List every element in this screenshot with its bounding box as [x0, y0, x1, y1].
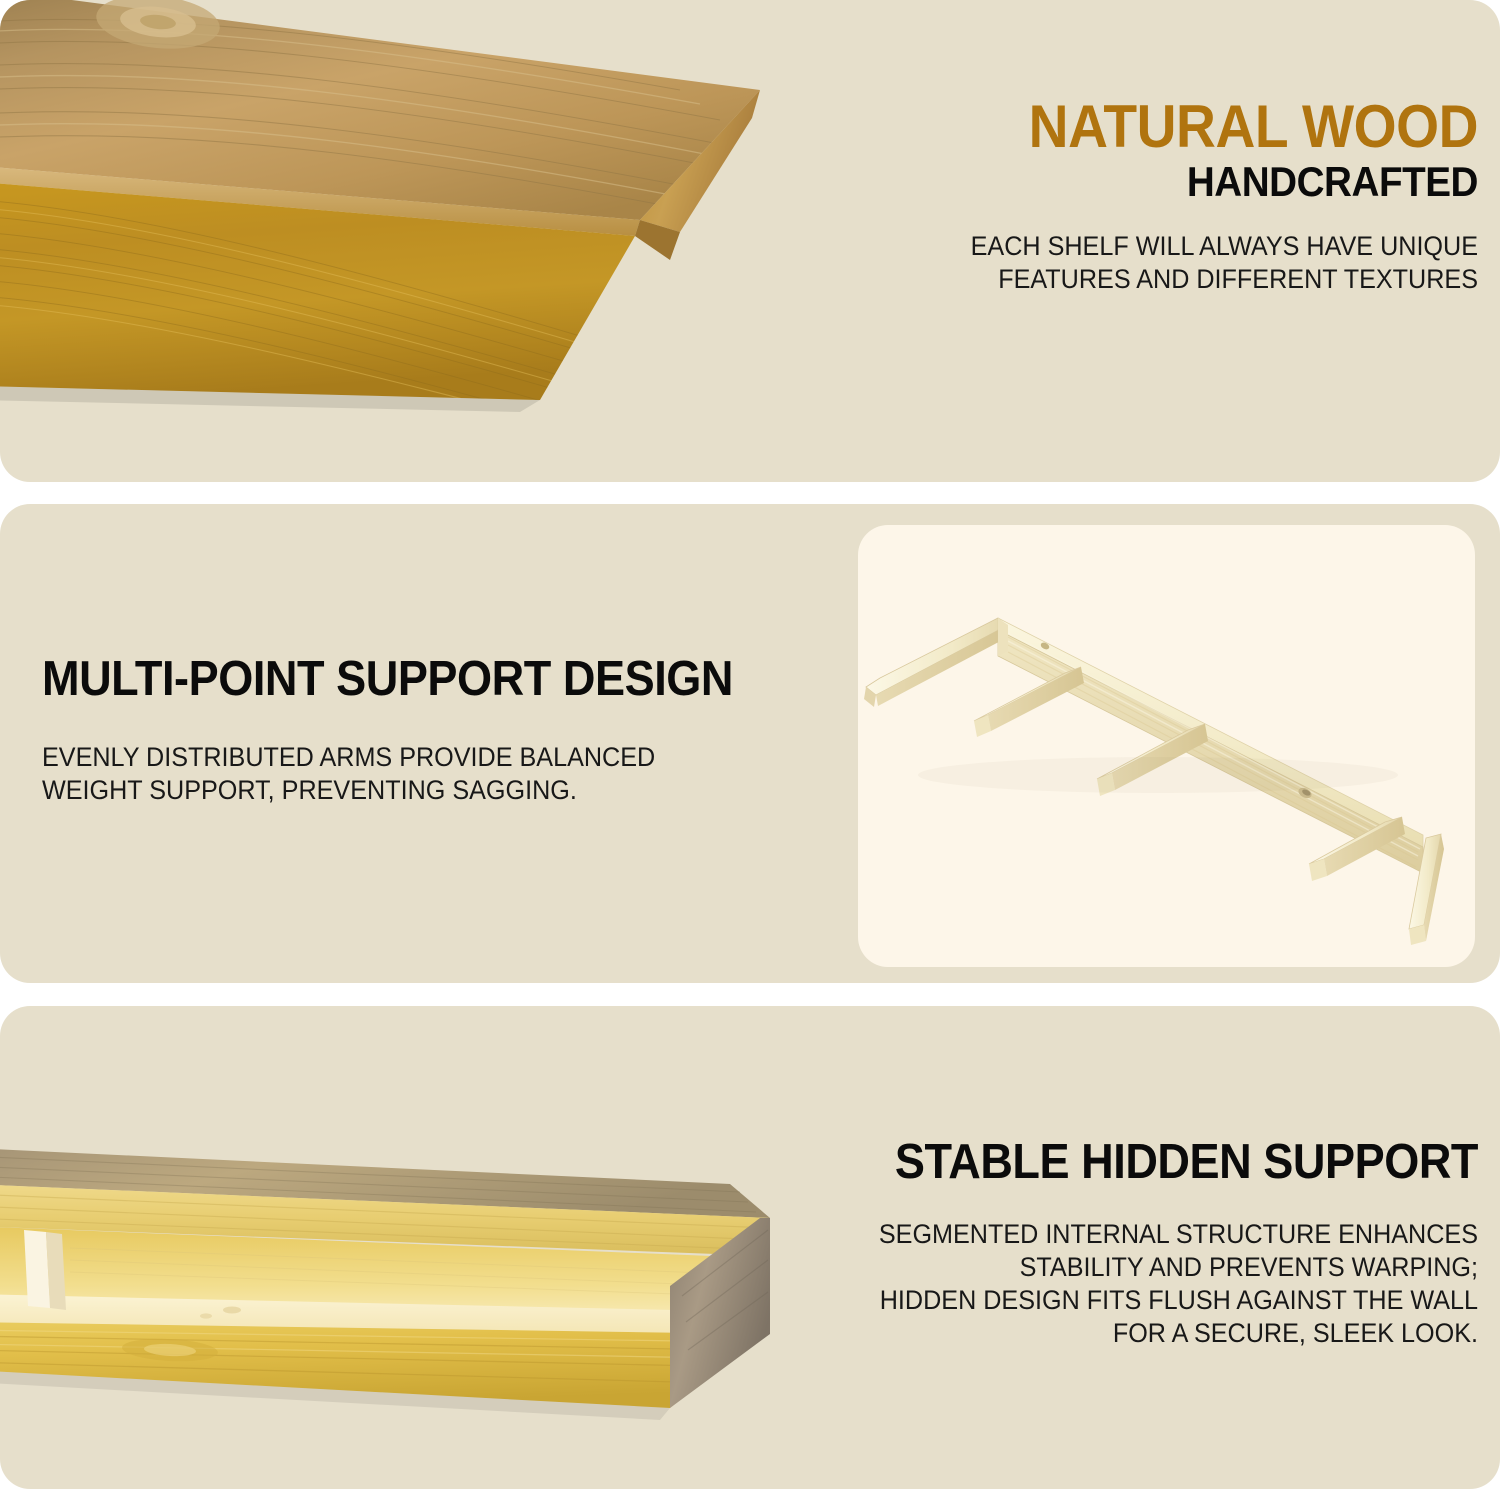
- product-feature-infographic: NATURAL WOOD HANDCRAFTED EACH SHELF WILL…: [0, 0, 1500, 1489]
- subheadline-handcrafted: HANDCRAFTED: [889, 161, 1478, 204]
- panel-1-text-block: NATURAL WOOD HANDCRAFTED EACH SHELF WILL…: [838, 96, 1478, 296]
- wooden-mounting-bracket-photo: [858, 525, 1475, 967]
- body-line: WEIGHT SUPPORT, PREVENTING SAGGING.: [42, 774, 764, 807]
- body-line: STABILITY AND PREVENTS WARPING;: [870, 1251, 1478, 1284]
- body-line: EVENLY DISTRIBUTED ARMS PROVIDE BALANCED: [42, 741, 764, 774]
- headline-stable-hidden-support: STABLE HIDDEN SUPPORT: [889, 1138, 1478, 1188]
- panel-2-text-block: MULTI-POINT SUPPORT DESIGN EVENLY DISTRI…: [42, 655, 802, 807]
- stained-wood-plank-photo: [0, 0, 820, 440]
- bracket-image-card: [858, 525, 1475, 967]
- body-line: SEGMENTED INTERNAL STRUCTURE ENHANCES: [870, 1218, 1478, 1251]
- panel-natural-wood: NATURAL WOOD HANDCRAFTED EACH SHELF WILL…: [0, 0, 1500, 482]
- body-line: FOR A SECURE, SLEEK LOOK.: [870, 1317, 1478, 1350]
- body-line: FEATURES AND DIFFERENT TEXTURES: [870, 263, 1478, 296]
- panel-stable-hidden-support: STABLE HIDDEN SUPPORT SEGMENTED INTERNAL…: [0, 1006, 1500, 1489]
- headline-multi-point-support: MULTI-POINT SUPPORT DESIGN: [42, 655, 741, 705]
- hollow-shelf-interior-photo: [0, 1126, 830, 1486]
- panel-multi-point-support: MULTI-POINT SUPPORT DESIGN EVENLY DISTRI…: [0, 504, 1500, 983]
- headline-natural-wood: NATURAL WOOD: [889, 96, 1478, 157]
- panel-3-text-block: STABLE HIDDEN SUPPORT SEGMENTED INTERNAL…: [838, 1138, 1478, 1349]
- body-line: EACH SHELF WILL ALWAYS HAVE UNIQUE: [870, 230, 1478, 263]
- body-line: HIDDEN DESIGN FITS FLUSH AGAINST THE WAL…: [870, 1284, 1478, 1317]
